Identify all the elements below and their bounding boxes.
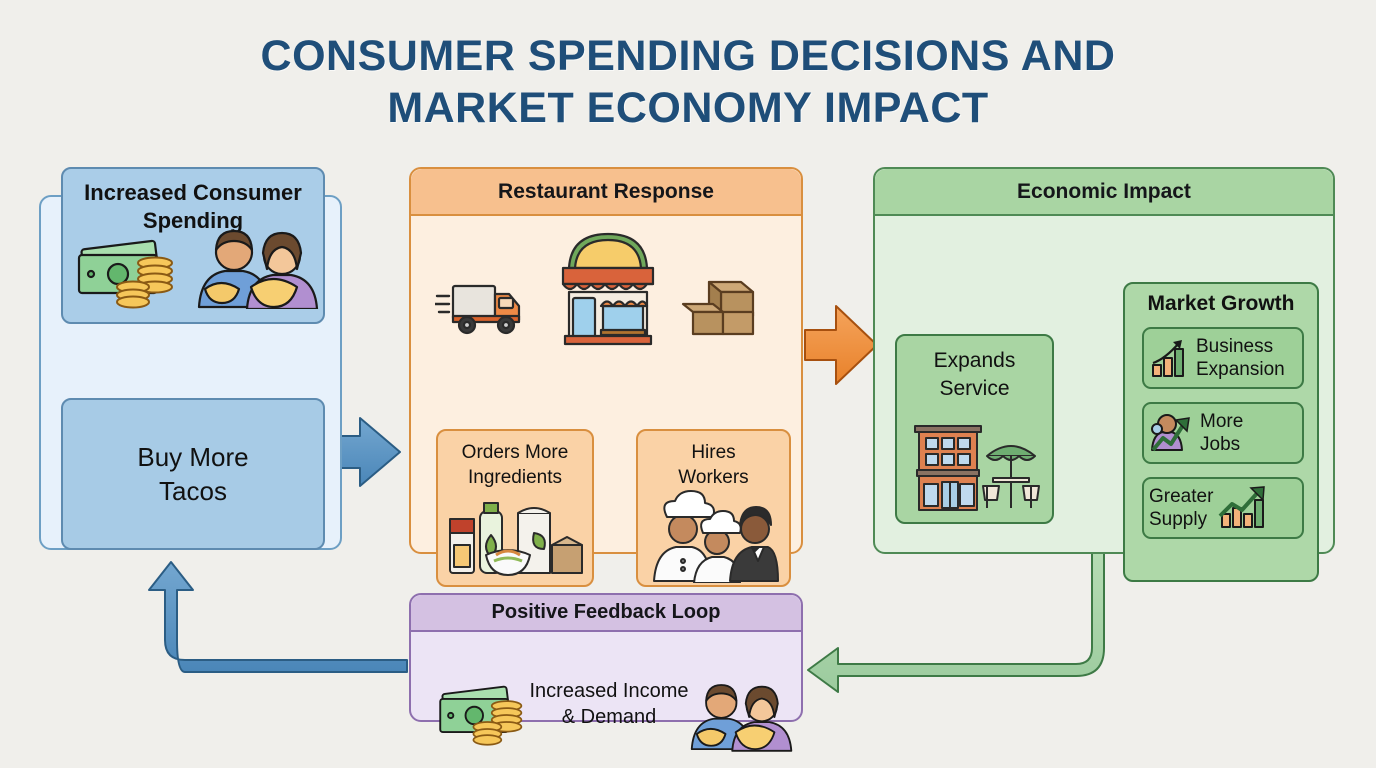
restaurant-staff-icon — [648, 489, 780, 583]
hires-workers-box[interactable]: Hires Workers — [636, 429, 791, 587]
orders-more-ingredients-box[interactable]: Orders More Ingredients — [436, 429, 594, 587]
supply-bar-arrow-icon — [1218, 486, 1270, 530]
market-growth-item-business-expansion-label: Business Expansion — [1196, 335, 1285, 381]
building-patio-icon — [907, 416, 1047, 512]
title-line-2: MARKET ECONOMY IMPACT — [0, 82, 1376, 134]
economic-to-feedback-arrow — [808, 552, 1104, 692]
expands-service-label: Expands Service — [897, 336, 1052, 403]
market-growth-item-business-expansion[interactable]: Business Expansion — [1142, 327, 1304, 389]
market-growth-item-greater-supply[interactable]: Greater Supply — [1142, 477, 1304, 539]
grocery-ingredients-icon — [446, 493, 586, 581]
feedback-to-consumer-arrow — [149, 562, 407, 672]
market-growth-item-more-jobs-label: More Jobs — [1200, 410, 1243, 456]
restaurant-response-header: Restaurant Response — [411, 169, 801, 216]
cash-coins-icon — [73, 231, 183, 309]
buy-more-tacos-box[interactable]: Buy More Tacos — [61, 398, 325, 550]
cardboard-boxes-icon — [679, 278, 759, 338]
hires-workers-label: Hires Workers — [638, 431, 789, 490]
economic-impact-panel: Economic Impact Expands Service — [873, 167, 1335, 554]
expands-service-box[interactable]: Expands Service — [895, 334, 1054, 524]
taco-storefront-icon — [545, 228, 671, 350]
positive-feedback-loop-panel: Positive Feedback Loop Increa — [409, 593, 803, 722]
page-title: CONSUMER SPENDING DECISIONS AND MARKET E… — [0, 30, 1376, 134]
positive-feedback-loop-header: Positive Feedback Loop — [411, 595, 801, 632]
market-growth-title: Market Growth — [1125, 284, 1317, 316]
buy-more-tacos-label: Buy More Tacos — [137, 440, 248, 508]
increased-income-demand-label: Increased Income & Demand — [529, 678, 689, 730]
increased-consumer-spending-box[interactable]: Increased Consumer Spending — [61, 167, 325, 324]
delivery-truck-icon — [435, 276, 525, 338]
growth-bar-chart-icon — [1149, 337, 1191, 379]
jobs-people-arrow-icon — [1149, 412, 1195, 454]
title-line-1: CONSUMER SPENDING DECISIONS AND — [0, 30, 1376, 82]
consumers-eating-tacos-icon — [685, 672, 793, 752]
economic-impact-header: Economic Impact — [875, 169, 1333, 216]
restaurant-response-panel: Restaurant Response — [409, 167, 803, 554]
diagram-canvas: CONSUMER SPENDING DECISIONS AND MARKET E… — [0, 0, 1376, 768]
cash-coins-icon — [435, 676, 531, 748]
orders-more-ingredients-label: Orders More Ingredients — [438, 431, 592, 490]
restaurant-to-economic-arrow — [805, 306, 877, 384]
market-growth-item-greater-supply-label: Greater Supply — [1149, 485, 1213, 531]
market-growth-box[interactable]: Market Growth Business Expansion — [1123, 282, 1319, 582]
consumers-eating-tacos-icon — [191, 217, 319, 309]
market-growth-item-more-jobs[interactable]: More Jobs — [1142, 402, 1304, 464]
